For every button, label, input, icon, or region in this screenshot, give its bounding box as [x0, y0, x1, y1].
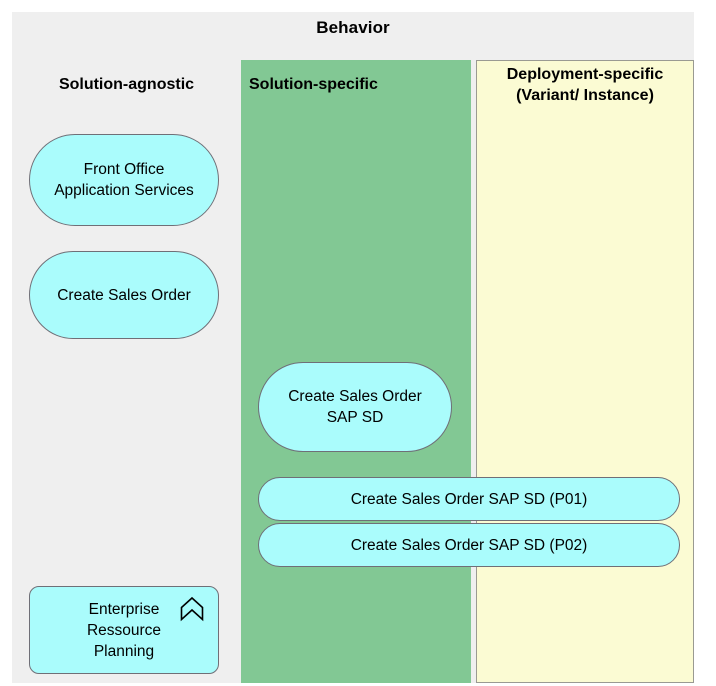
- column-header-solution-agnostic: Solution-agnostic: [12, 74, 241, 95]
- column-header-deployment-specific: Deployment-specific (Variant/ Instance): [482, 64, 688, 106]
- node-create-sales-order-sap-sd-p02[interactable]: Create Sales Order SAP SD (P02): [258, 523, 680, 567]
- node-create-sales-order-sap-sd[interactable]: Create Sales Order SAP SD: [258, 362, 452, 452]
- node-create-sales-order-sap-sd-p01[interactable]: Create Sales Order SAP SD (P01): [258, 477, 680, 521]
- node-enterprise-ressource-planning[interactable]: Enterprise Ressource Planning: [29, 586, 219, 674]
- node-front-office-application-services[interactable]: Front Office Application Services: [29, 134, 219, 226]
- node-label: Enterprise Ressource Planning: [79, 599, 169, 662]
- node-label: Front Office Application Services: [42, 159, 206, 201]
- diagram-canvas: Behavior Solution-agnostic Solution-spec…: [0, 0, 716, 686]
- node-label: Create Sales Order SAP SD (P01): [339, 489, 600, 510]
- node-label: Create Sales Order SAP SD (P02): [339, 535, 600, 556]
- node-component-icon: [179, 596, 205, 622]
- node-label: Create Sales Order: [45, 285, 203, 306]
- diagram-title: Behavior: [12, 18, 694, 38]
- column-header-solution-specific: Solution-specific: [249, 74, 471, 95]
- node-label: Create Sales Order SAP SD: [276, 386, 434, 428]
- column-band-deployment-specific: [476, 60, 694, 683]
- node-create-sales-order[interactable]: Create Sales Order: [29, 251, 219, 339]
